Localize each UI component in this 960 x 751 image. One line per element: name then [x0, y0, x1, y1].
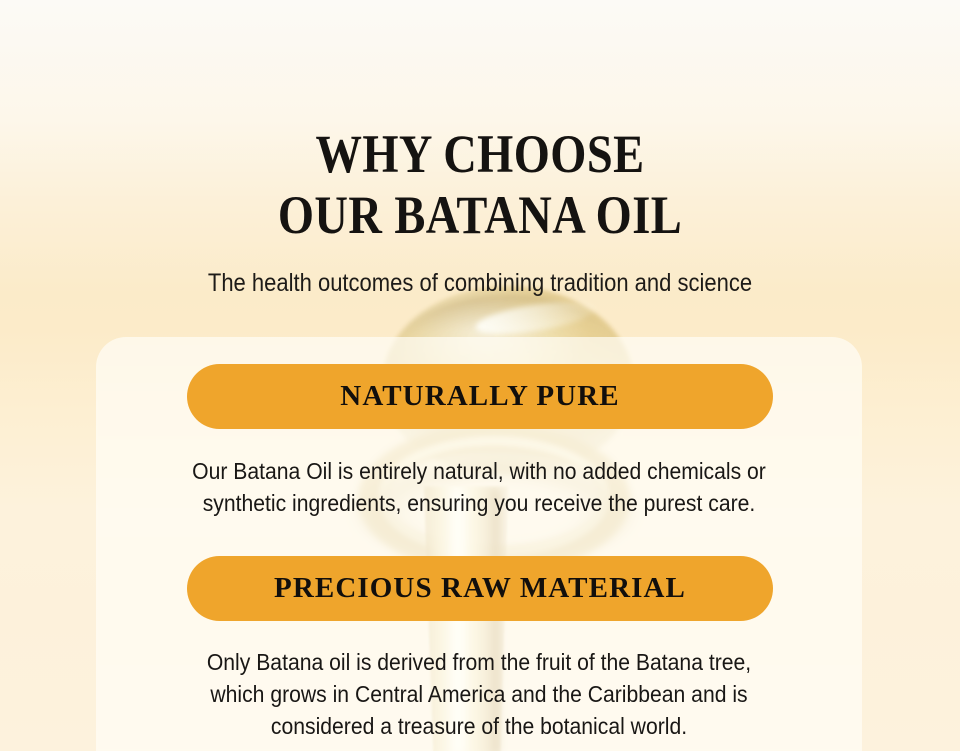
- section-body-line: Our Batana Oil is entirely natural, with…: [134, 455, 823, 487]
- banner-content: WHY CHOOSE OUR BATANA OIL The health out…: [0, 0, 960, 751]
- batana-oil-promo-banner: WHY CHOOSE OUR BATANA OIL The health out…: [0, 0, 960, 751]
- section-body-line: considered a treasure of the botanical w…: [134, 710, 823, 742]
- section-body-line: Only Batana oil is derived from the frui…: [134, 646, 823, 678]
- badge-naturally-pure: NATURALLY PURE: [187, 364, 773, 429]
- page-subtitle: The health outcomes of combining traditi…: [58, 268, 903, 299]
- section-body-line: synthetic ingredients, ensuring you rece…: [134, 487, 823, 519]
- section-body-precious-raw-material: Only Batana oil is derived from the frui…: [134, 646, 823, 742]
- badge-precious-raw-material: PRECIOUS RAW MATERIAL: [187, 556, 773, 621]
- page-title: WHY CHOOSE OUR BATANA OIL: [67, 124, 893, 246]
- badge-precious-raw-material-label: PRECIOUS RAW MATERIAL: [274, 572, 686, 605]
- badge-naturally-pure-label: NATURALLY PURE: [340, 380, 619, 413]
- section-body-line: which grows in Central America and the C…: [134, 678, 823, 710]
- section-body-naturally-pure: Our Batana Oil is entirely natural, with…: [134, 455, 823, 519]
- page-title-line-2: OUR BATANA OIL: [67, 185, 893, 246]
- page-title-line-1: WHY CHOOSE: [67, 124, 893, 185]
